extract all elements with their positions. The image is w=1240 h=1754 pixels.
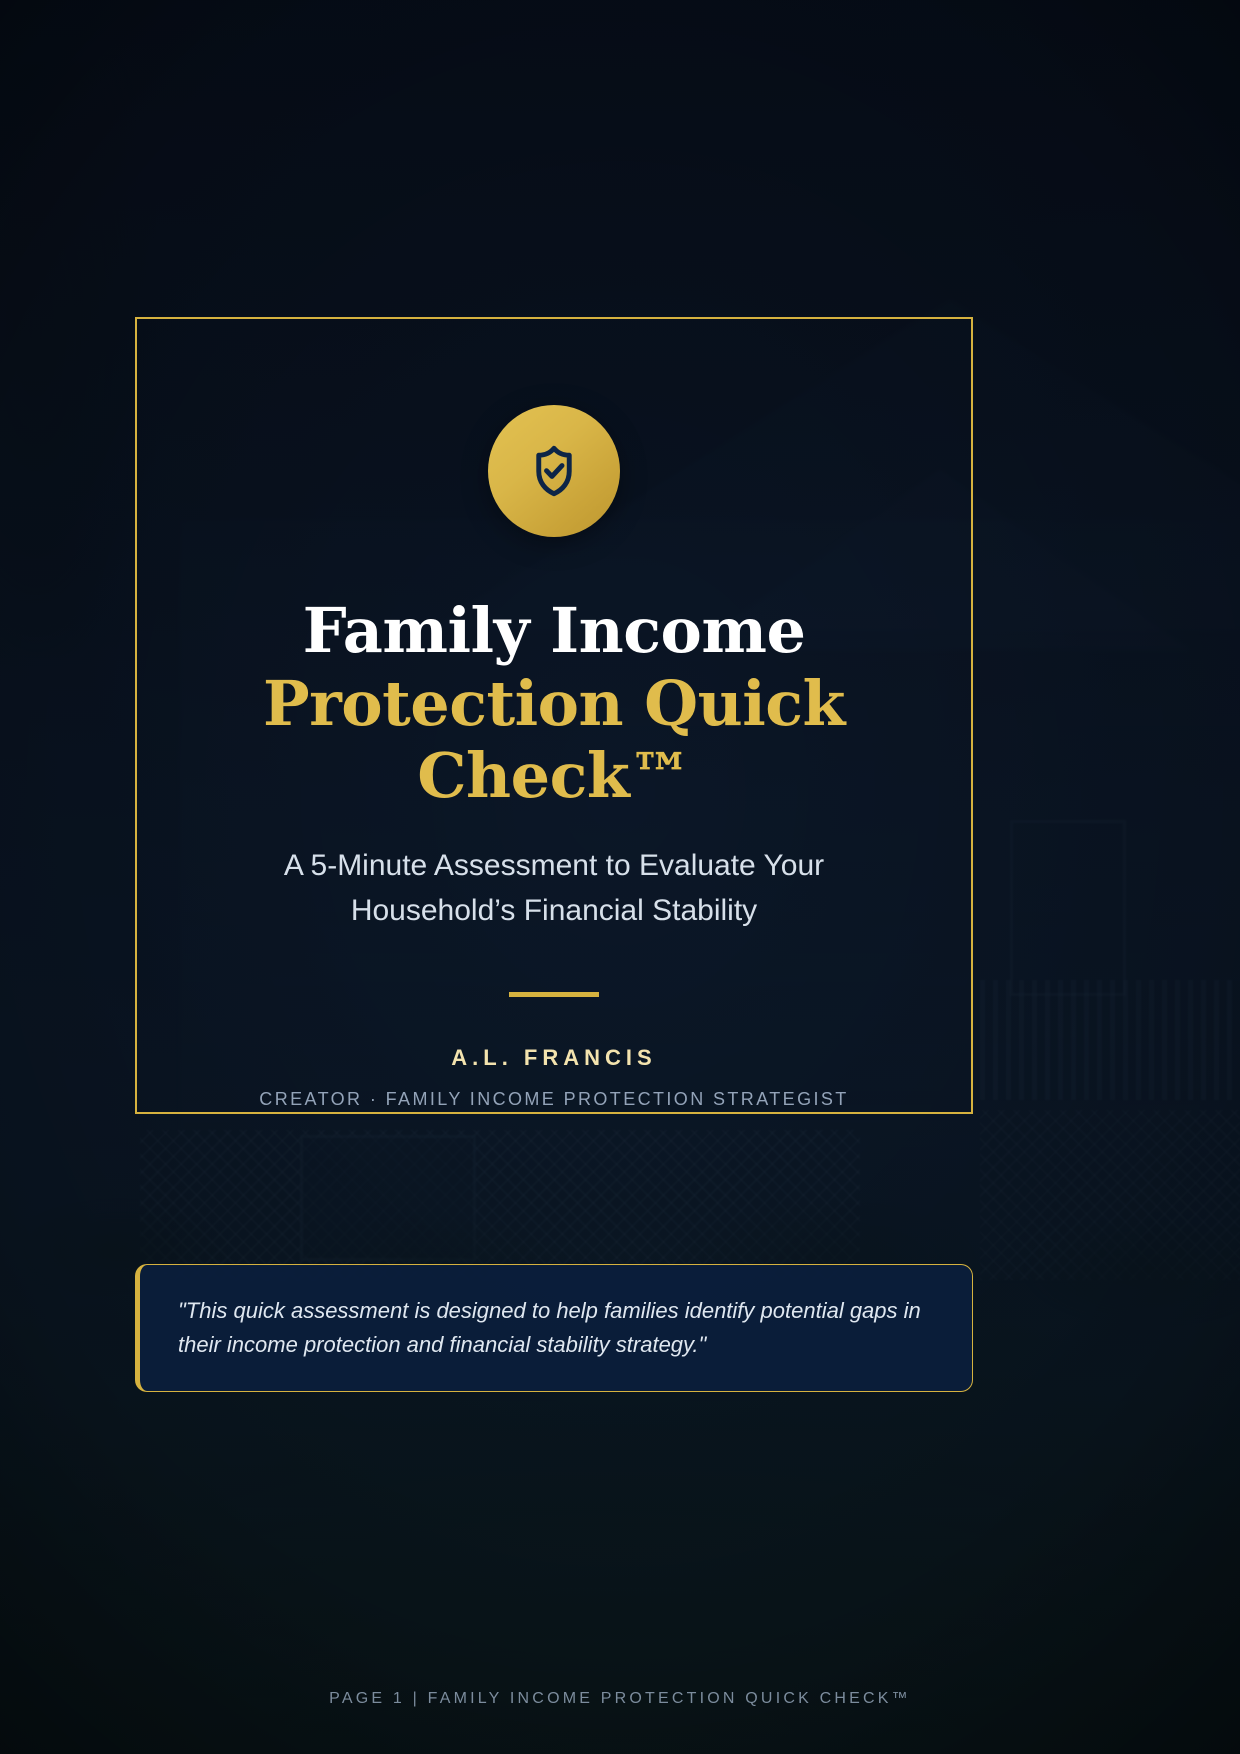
hero-card: Family Income Protection Quick Check™ A …	[135, 317, 973, 1114]
cover-page: Family Income Protection Quick Check™ A …	[0, 0, 1240, 1754]
subtitle-line-1: A 5-Minute Assessment to Evaluate Your	[234, 843, 874, 889]
quote-callout: "This quick assessment is designed to he…	[135, 1264, 973, 1392]
author-role: CREATOR · FAMILY INCOME PROTECTION STRAT…	[259, 1089, 848, 1110]
subtitle: A 5-Minute Assessment to Evaluate Your H…	[234, 843, 874, 934]
gold-divider	[509, 992, 599, 997]
title-block: Family Income Protection Quick Check™	[137, 595, 971, 813]
title-line-2: Protection Quick Check™	[137, 668, 971, 813]
page-footer: PAGE 1 | FAMILY INCOME PROTECTION QUICK …	[0, 1690, 1240, 1708]
subtitle-line-2: Household’s Financial Stability	[234, 888, 874, 934]
author-name: A.L. FRANCIS	[451, 1045, 656, 1071]
title-line-1: Family Income	[137, 595, 971, 668]
shield-check-badge	[488, 405, 620, 537]
shield-check-icon	[523, 440, 585, 502]
quote-text: "This quick assessment is designed to he…	[178, 1294, 934, 1362]
